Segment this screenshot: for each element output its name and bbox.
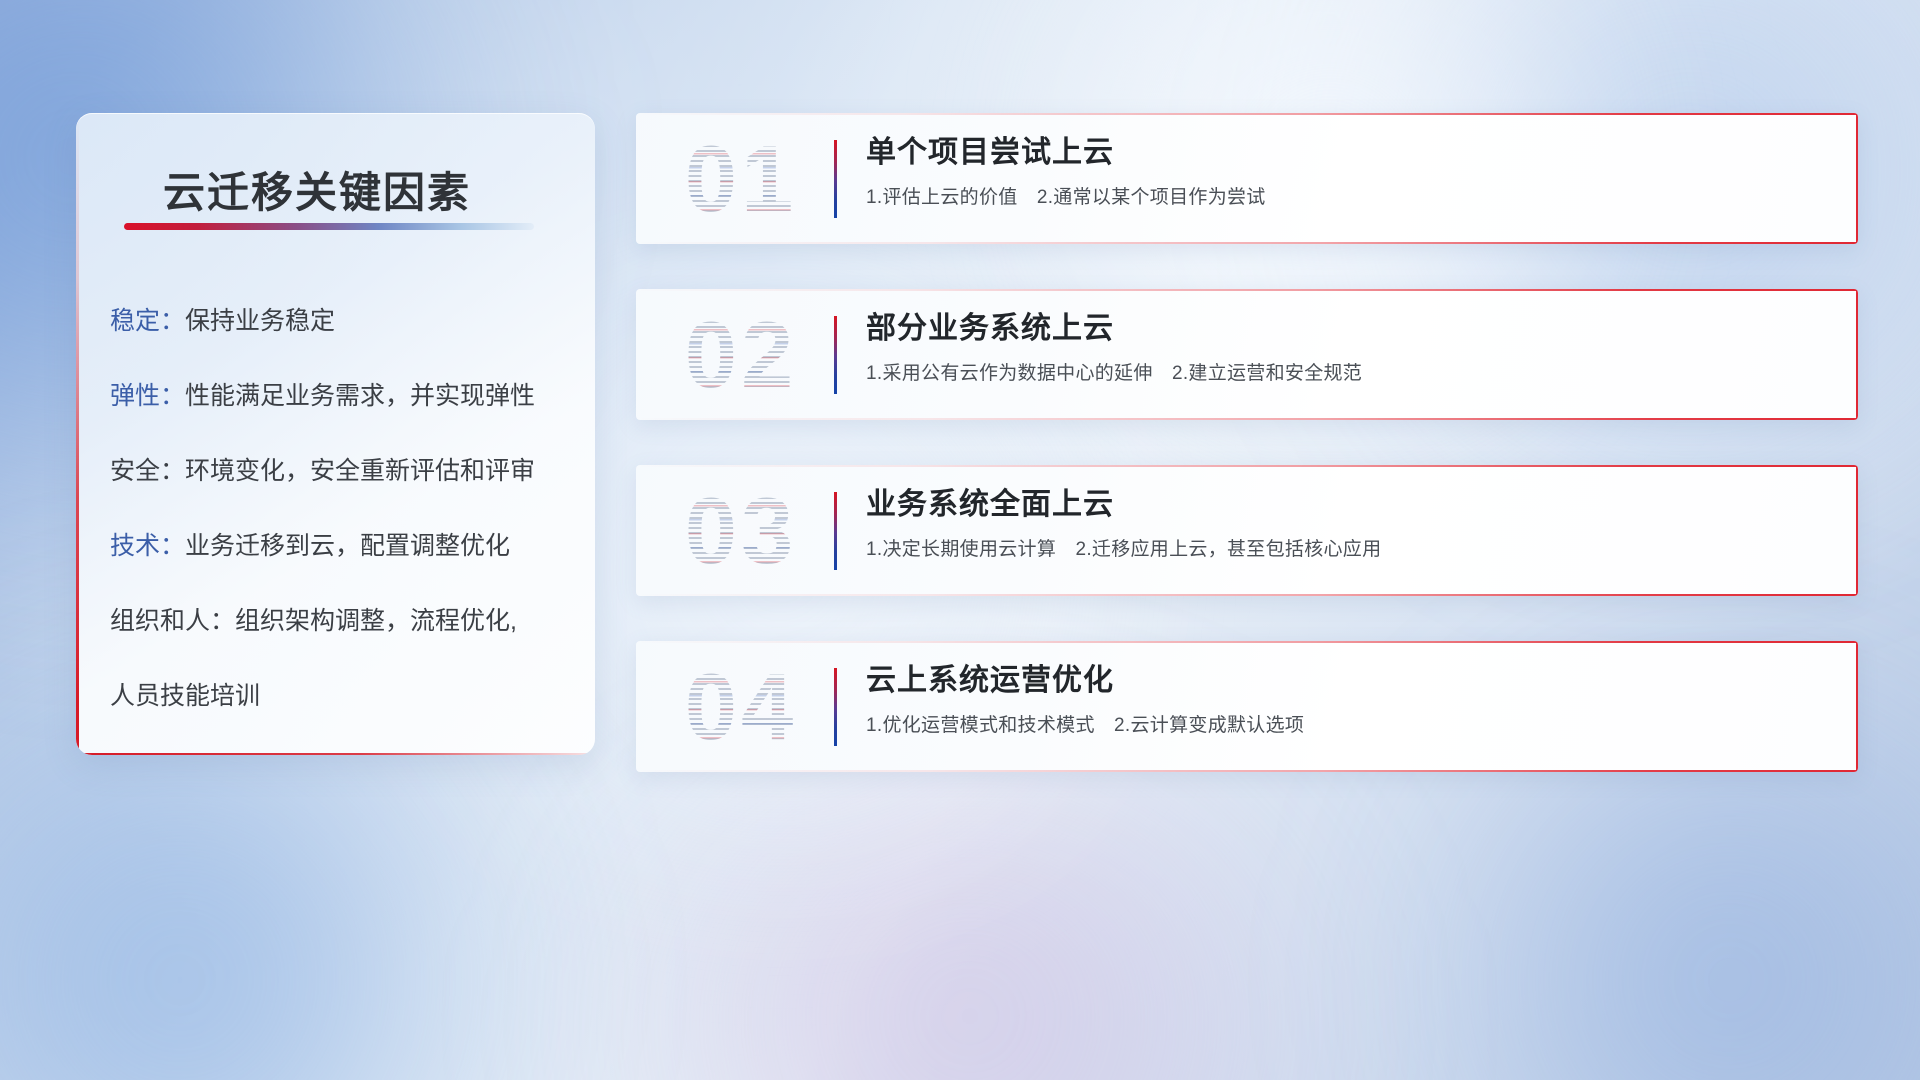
card-bottom-edge <box>636 418 1858 420</box>
card-subtitle: 1.评估上云的价值 2.通常以某个项目作为尝试 <box>866 182 1828 209</box>
factor-label: 安全： <box>110 457 185 485</box>
factor-label: 弹性： <box>110 382 185 410</box>
stage-card[interactable]: 03 03 业务系统全面上云 1.决定长期使用云计算 2.迁移应用上云，甚至包括… <box>636 465 1858 596</box>
card-top-edge <box>636 289 1858 291</box>
page-title: 云迁移关键因素 <box>163 159 471 220</box>
factor-label: 稳定： <box>110 307 185 335</box>
card-divider-bar <box>834 316 837 394</box>
factor-label: 技术： <box>110 532 185 560</box>
card-content: 业务系统全面上云 1.决定长期使用云计算 2.迁移应用上云，甚至包括核心应用 <box>866 487 1828 561</box>
list-item: 组织和人：组织架构调整，流程优化, <box>110 609 573 634</box>
list-item: 弹性：性能满足业务需求，并实现弹性 <box>110 384 573 409</box>
factor-value: 组织架构调整，流程优化, <box>235 607 517 635</box>
card-content: 云上系统运营优化 1.优化运营模式和技术模式 2.云计算变成默认选项 <box>866 663 1828 737</box>
slide-stage: 云迁移关键因素 稳定：保持业务稳定 弹性：性能满足业务需求，并实现弹性 安全：环… <box>0 0 1920 1080</box>
card-content: 单个项目尝试上云 1.评估上云的价值 2.通常以某个项目作为尝试 <box>866 135 1828 209</box>
list-item: 技术：业务迁移到云，配置调整优化 <box>110 534 573 559</box>
key-factors-panel: 云迁移关键因素 稳定：保持业务稳定 弹性：性能满足业务需求，并实现弹性 安全：环… <box>76 113 595 755</box>
card-top-edge <box>636 465 1858 467</box>
card-subtitle: 1.优化运营模式和技术模式 2.云计算变成默认选项 <box>866 710 1828 737</box>
key-factors-list: 稳定：保持业务稳定 弹性：性能满足业务需求，并实现弹性 安全：环境变化，安全重新… <box>110 309 573 709</box>
card-divider-bar <box>834 668 837 746</box>
card-top-edge <box>636 641 1858 643</box>
stage-card[interactable]: 01 01 单个项目尝试上云 1.评估上云的价值 2.通常以某个项目作为尝试 <box>636 113 1858 244</box>
card-divider-bar <box>834 492 837 570</box>
card-subtitle: 1.决定长期使用云计算 2.迁移应用上云，甚至包括核心应用 <box>866 534 1828 561</box>
stage-card[interactable]: 04 04 云上系统运营优化 1.优化运营模式和技术模式 2.云计算变成默认选项 <box>636 641 1858 772</box>
factor-value: 业务迁移到云，配置调整优化 <box>185 532 510 560</box>
stage-card[interactable]: 02 02 部分业务系统上云 1.采用公有云作为数据中心的延伸 2.建立运营和安… <box>636 289 1858 420</box>
card-title: 云上系统运营优化 <box>866 663 1828 698</box>
factor-value: 保持业务稳定 <box>185 307 335 335</box>
list-item: 安全：环境变化，安全重新评估和评审 <box>110 459 573 484</box>
card-title: 部分业务系统上云 <box>866 311 1828 346</box>
stage-number-watermark-tint: 01 <box>656 125 826 233</box>
card-content: 部分业务系统上云 1.采用公有云作为数据中心的延伸 2.建立运营和安全规范 <box>866 311 1828 385</box>
title-underline-rule <box>124 223 534 230</box>
card-bottom-edge <box>636 242 1858 244</box>
card-title: 单个项目尝试上云 <box>866 135 1828 170</box>
factor-label: 组织和人： <box>110 607 235 635</box>
stage-number-watermark-tint: 02 <box>656 301 826 409</box>
stage-number-watermark-tint: 04 <box>656 653 826 761</box>
factor-value: 环境变化，安全重新评估和评审 <box>185 457 535 485</box>
factor-value: 性能满足业务需求，并实现弹性 <box>185 382 535 410</box>
migration-stage-cards: 01 01 单个项目尝试上云 1.评估上云的价值 2.通常以某个项目作为尝试 0… <box>636 113 1858 772</box>
list-item: 人员技能培训 <box>110 684 573 709</box>
card-right-edge <box>1856 289 1859 420</box>
card-bottom-edge <box>636 770 1858 772</box>
card-title: 业务系统全面上云 <box>866 487 1828 522</box>
card-right-edge <box>1856 641 1859 772</box>
stage-number-watermark-tint: 03 <box>656 477 826 585</box>
card-right-edge <box>1856 113 1859 244</box>
card-subtitle: 1.采用公有云作为数据中心的延伸 2.建立运营和安全规范 <box>866 358 1828 385</box>
card-top-edge <box>636 113 1858 115</box>
card-divider-bar <box>834 140 837 218</box>
factor-value: 人员技能培训 <box>110 682 260 710</box>
card-bottom-edge <box>636 594 1858 596</box>
list-item: 稳定：保持业务稳定 <box>110 309 573 334</box>
card-right-edge <box>1856 465 1859 596</box>
